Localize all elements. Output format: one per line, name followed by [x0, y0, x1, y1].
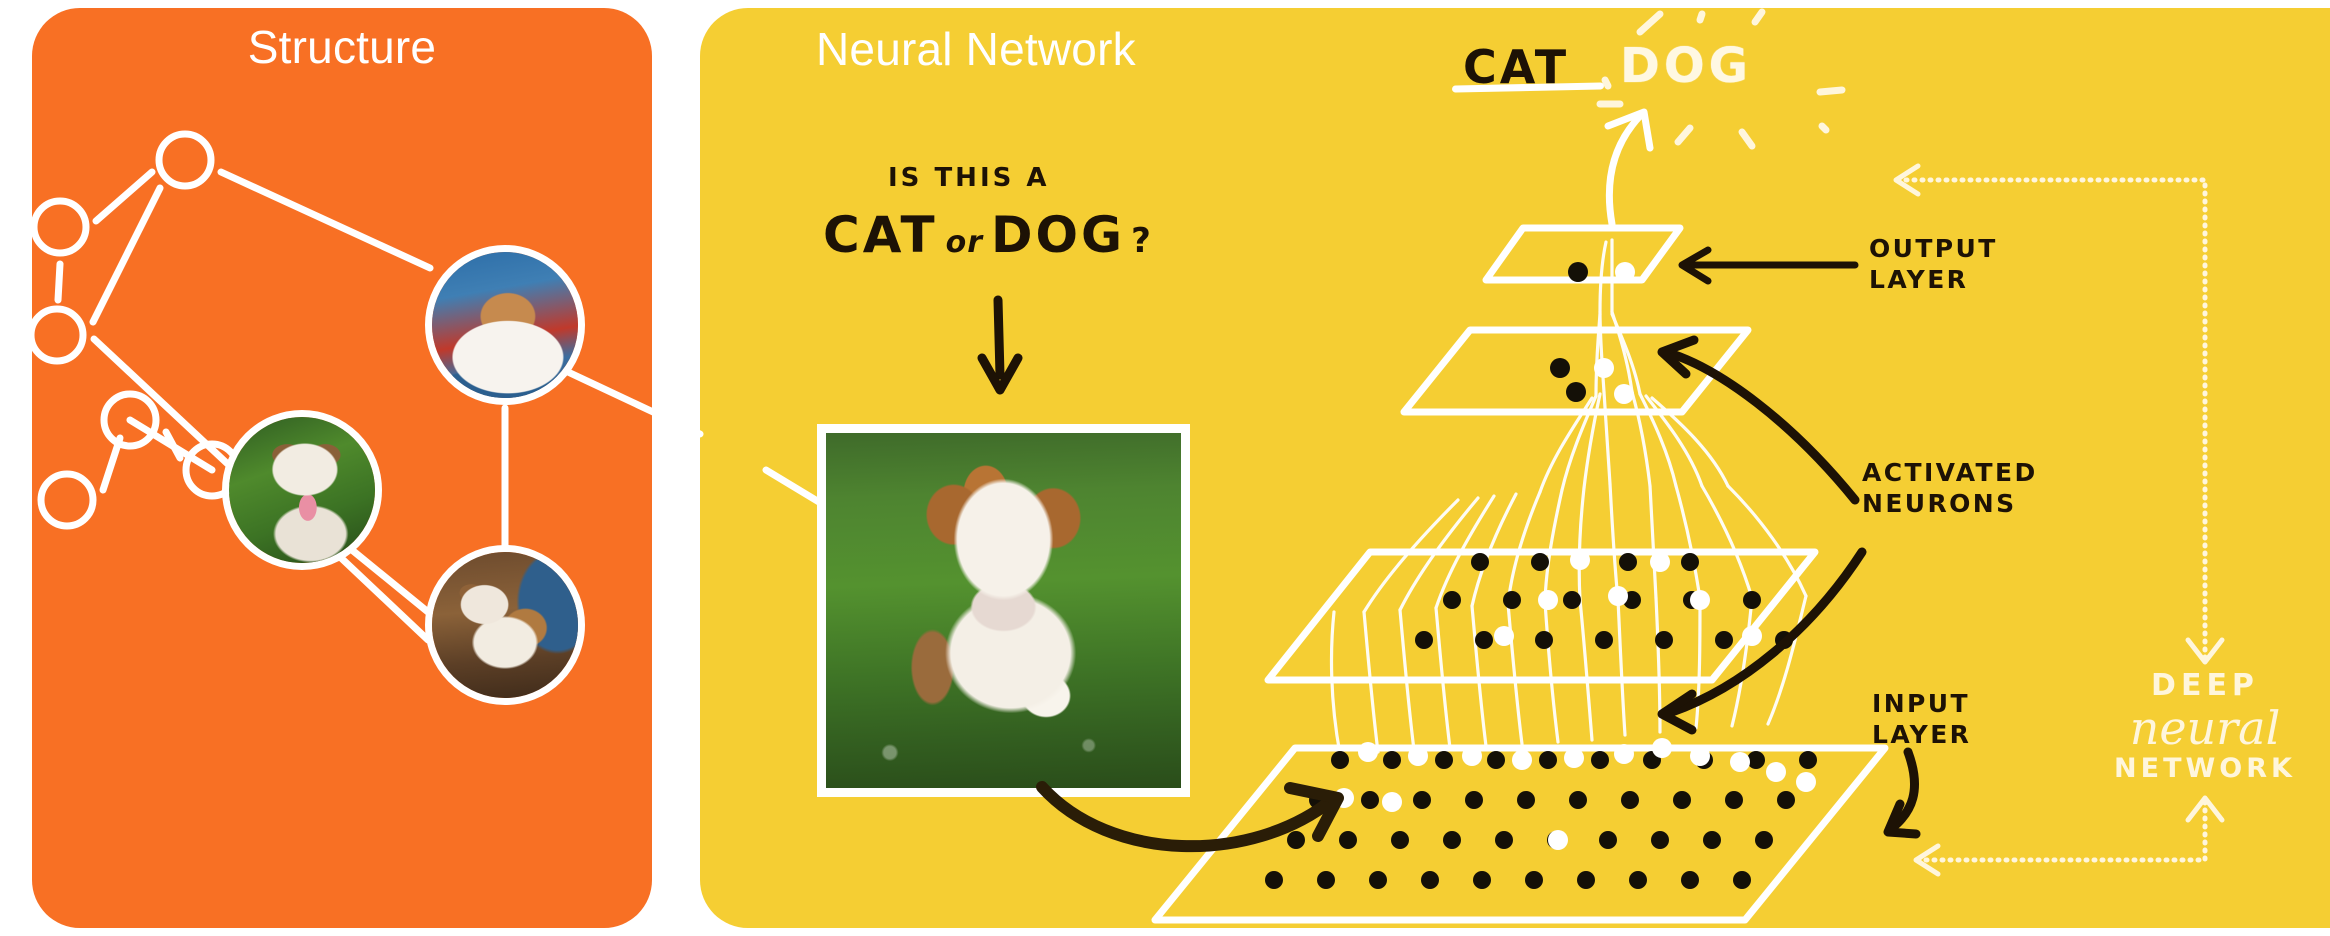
sparkle	[1678, 128, 1690, 142]
sparkle	[1820, 90, 1842, 92]
sparkle	[1605, 80, 1608, 86]
sparkle	[1742, 132, 1752, 146]
sparkle	[1640, 14, 1660, 32]
sparkle	[1700, 14, 1702, 20]
sparkle	[1822, 126, 1826, 130]
dog-sparkles	[0, 0, 2330, 936]
infographic-root: Structure Neural Network	[0, 0, 2330, 936]
sparkle	[1755, 12, 1762, 22]
